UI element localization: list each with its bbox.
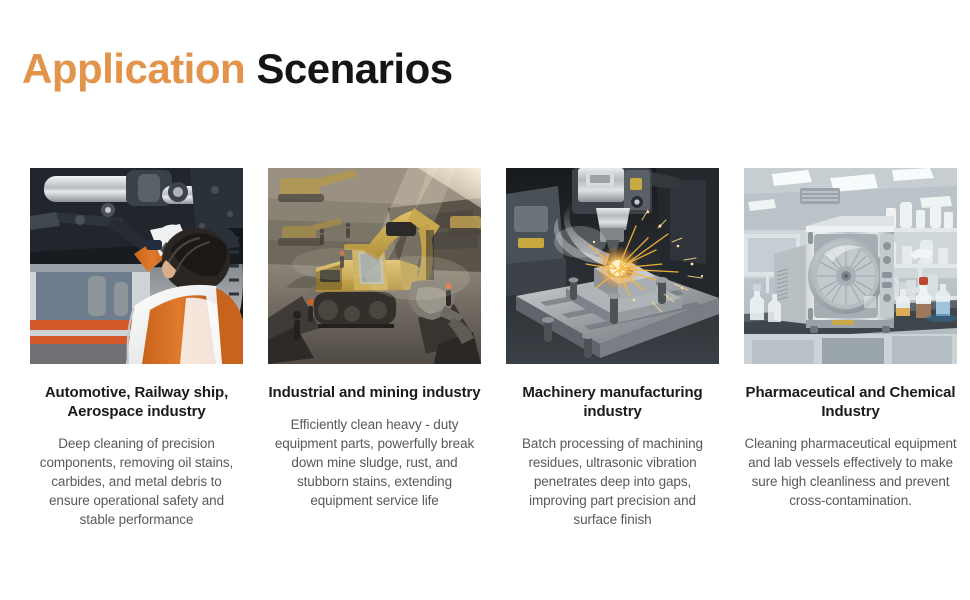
automotive-mechanic-underbody-photo	[30, 168, 243, 364]
scenario-card-automotive[interactable]: Automotive, Railway ship, Aerospace indu…	[30, 168, 243, 529]
card-heading: Automotive, Railway ship, Aerospace indu…	[30, 383, 243, 421]
page-title-main: Scenarios	[256, 45, 452, 92]
scenario-card-grid: Automotive, Railway ship, Aerospace indu…	[30, 168, 948, 529]
card-heading: Pharmaceutical and Chemical Industry	[744, 383, 957, 421]
card-body-text: Efficiently clean heavy - duty equipment…	[268, 415, 481, 510]
card-body-text: Deep cleaning of precision components, r…	[30, 434, 243, 529]
card-body-text: Batch processing of machining residues, …	[506, 434, 719, 529]
scenario-card-mining[interactable]: Industrial and mining industry Efficient…	[268, 168, 481, 529]
laboratory-autoclave-sterilizer-photo	[744, 168, 957, 364]
scenario-card-pharmaceutical[interactable]: Pharmaceutical and Chemical Industry Cle…	[744, 168, 957, 529]
card-heading: Machinery manufacturing industry	[506, 383, 719, 421]
scenario-card-machinery[interactable]: Machinery manufacturing industry Batch p…	[506, 168, 719, 529]
page-title: Application Scenarios	[22, 43, 453, 95]
cnc-machining-sparks-photo	[506, 168, 719, 364]
card-heading: Industrial and mining industry	[268, 383, 481, 402]
card-body-text: Cleaning pharmaceutical equipment and la…	[744, 434, 957, 510]
application-scenarios-page: Application Scenarios	[0, 0, 970, 600]
page-title-accent: Application	[22, 45, 245, 92]
mining-excavator-quarry-photo	[268, 168, 481, 364]
